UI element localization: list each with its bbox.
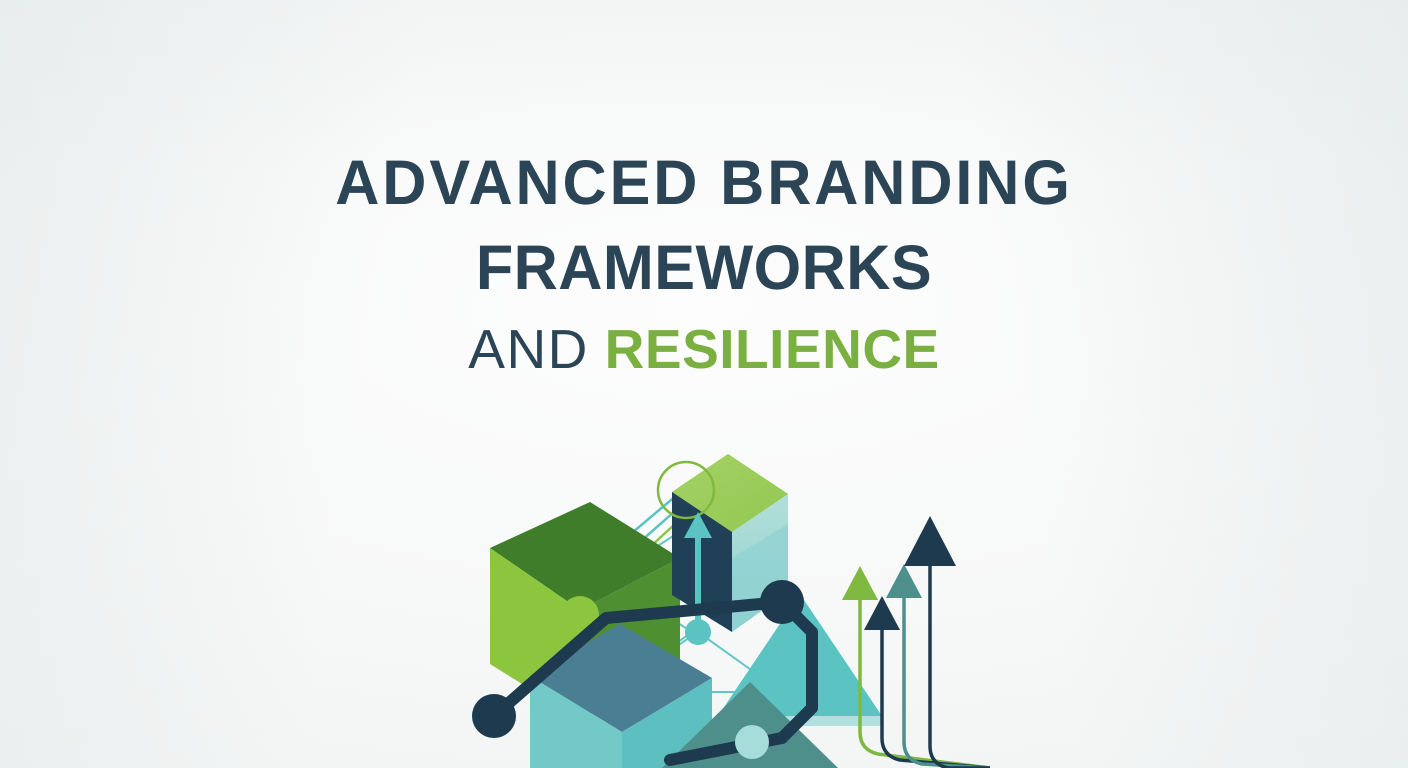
arrow-navy-short bbox=[864, 596, 990, 768]
arrow-navy-tall bbox=[904, 516, 990, 768]
title-accent-word: RESILIENCE bbox=[605, 318, 940, 380]
arrow-teal bbox=[886, 564, 990, 768]
node-navy-upper bbox=[760, 580, 804, 624]
title-line-tertiary: AND RESILIENCE bbox=[0, 322, 1408, 377]
node-navy-lower bbox=[472, 694, 516, 738]
title-line-primary: ADVANCED BRANDING bbox=[21, 152, 1387, 215]
node-teal-light bbox=[735, 725, 769, 759]
title-kicker: AND bbox=[468, 318, 589, 380]
growth-arrows bbox=[842, 516, 990, 768]
isometric-network-graphic bbox=[430, 420, 990, 768]
title-line-secondary: FRAMEWORKS bbox=[21, 237, 1387, 300]
page-title: ADVANCED BRANDING FRAMEWORKS AND RESILIE… bbox=[0, 152, 1408, 377]
